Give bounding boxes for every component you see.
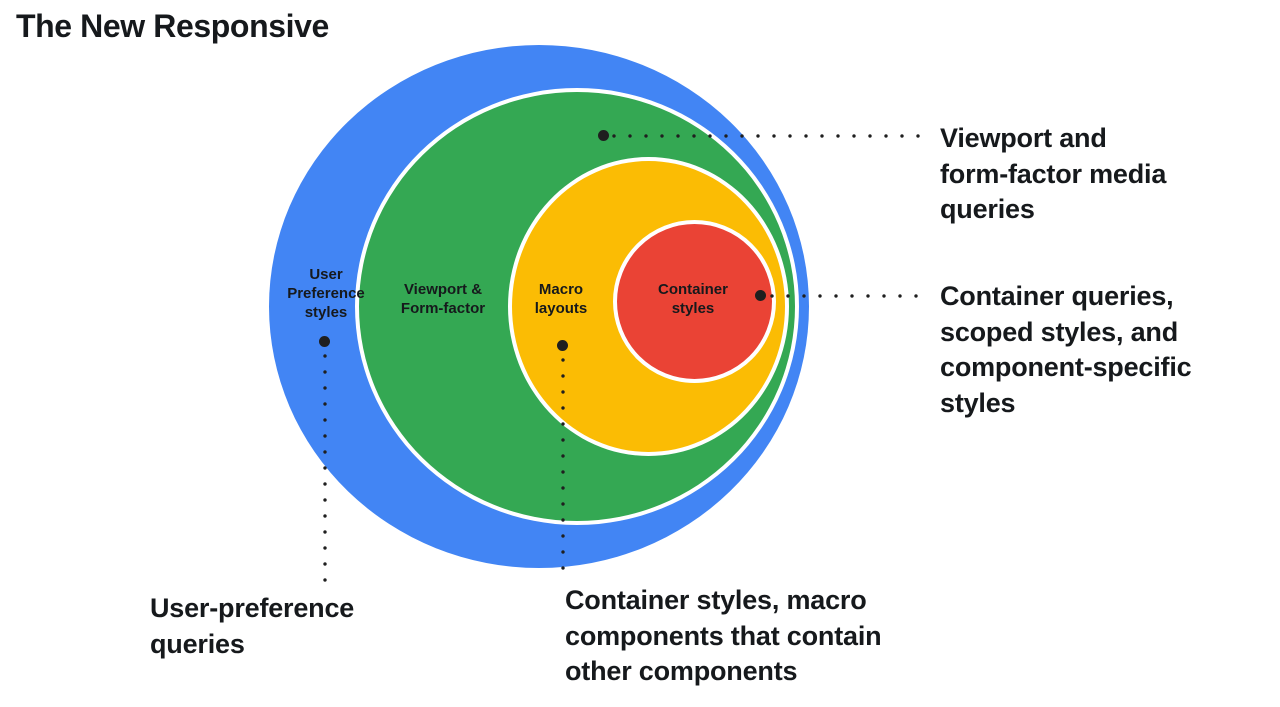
connector-line-macro [561,352,565,580]
annotation-viewport-media-queries: Viewport and form-factor media queries [940,121,1270,228]
annotation-container-queries: Container queries, scoped styles, and co… [940,279,1276,422]
ring-label-viewport-form-factor: Viewport & Form-factor [384,280,502,318]
connector-line-viewport [606,134,924,138]
connector-dot-macro [557,340,568,351]
annotation-container-macro-styles: Container styles, macro components that … [565,583,995,690]
connector-dot-user-preference [319,336,330,347]
ring-label-macro-layouts: Macro layouts [520,280,602,318]
ring-label-container-styles: Container styles [643,280,743,318]
connector-line-container [764,294,924,298]
ring-label-user-preference-styles: User Preference styles [283,265,369,323]
annotation-user-preference-queries: User-preference queries [150,591,480,662]
connector-line-user-preference [323,348,327,586]
